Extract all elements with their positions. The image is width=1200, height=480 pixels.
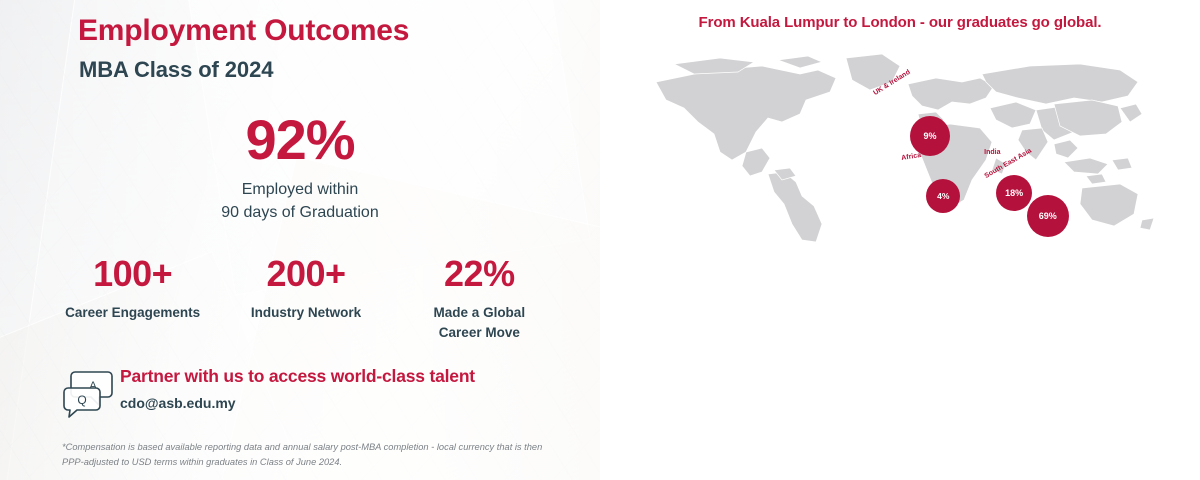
map-bubble-uk-ireland[interactable]: UK & Ireland 9%	[910, 116, 950, 156]
stat-career-engagements: 100+ Career Engagements	[46, 256, 219, 342]
map-bubble-value: 4%	[926, 179, 960, 213]
map-bubble-africa[interactable]: Africa 4%	[926, 179, 960, 213]
hero-caption: Employed within 90 days of Graduation	[150, 178, 450, 224]
bubble-letter-q: Q	[77, 393, 86, 407]
stat-global-career-move: 22% Made a Global Career Move	[393, 256, 566, 342]
hero-caption-line2: 90 days of Graduation	[150, 201, 450, 224]
infographic-page: Employment Outcomes MBA Class of 2024 92…	[0, 0, 1200, 480]
stat-label: Industry Network	[219, 303, 392, 323]
map-bubble-value: 69%	[1027, 195, 1069, 237]
footnote: *Compensation is based available reporti…	[62, 440, 562, 470]
map-title: From Kuala Lumpur to London - our gradua…	[600, 14, 1200, 31]
page-subtitle: MBA Class of 2024	[79, 57, 273, 83]
stat-label: Made a Global Career Move	[393, 303, 566, 342]
stat-value: 200+	[219, 256, 392, 292]
hero-caption-line1: Employed within	[150, 178, 450, 201]
stat-value: 100+	[46, 256, 219, 292]
page-title: Employment Outcomes	[78, 14, 409, 48]
hero-value: 92%	[150, 112, 450, 168]
map-bubble-south-east-asia[interactable]: South East Asia 69%	[1027, 195, 1069, 237]
stats-row: 100+ Career Engagements 200+ Industry Ne…	[46, 256, 566, 342]
map-bubble-label: India	[984, 149, 1000, 156]
cta-email[interactable]: cdo@asb.edu.my	[120, 395, 475, 411]
partner-cta[interactable]: A Q Partner with us to access world-clas…	[62, 366, 475, 418]
world-map: UK & Ireland 9% Africa 4% India 18% Sout…	[650, 48, 1160, 248]
left-panel: Employment Outcomes MBA Class of 2024 92…	[0, 0, 600, 480]
stat-label: Career Engagements	[46, 303, 219, 323]
stat-industry-network: 200+ Industry Network	[219, 256, 392, 342]
map-landmasses	[656, 54, 1154, 242]
map-bubble-value: 9%	[910, 116, 950, 156]
hero-stat: 92% Employed within 90 days of Graduatio…	[150, 112, 450, 224]
stat-value: 22%	[393, 256, 566, 292]
cta-headline: Partner with us to access world-class ta…	[120, 366, 475, 387]
right-panel: From Kuala Lumpur to London - our gradua…	[600, 0, 1200, 480]
qa-speech-bubbles-icon: A Q	[62, 368, 114, 418]
